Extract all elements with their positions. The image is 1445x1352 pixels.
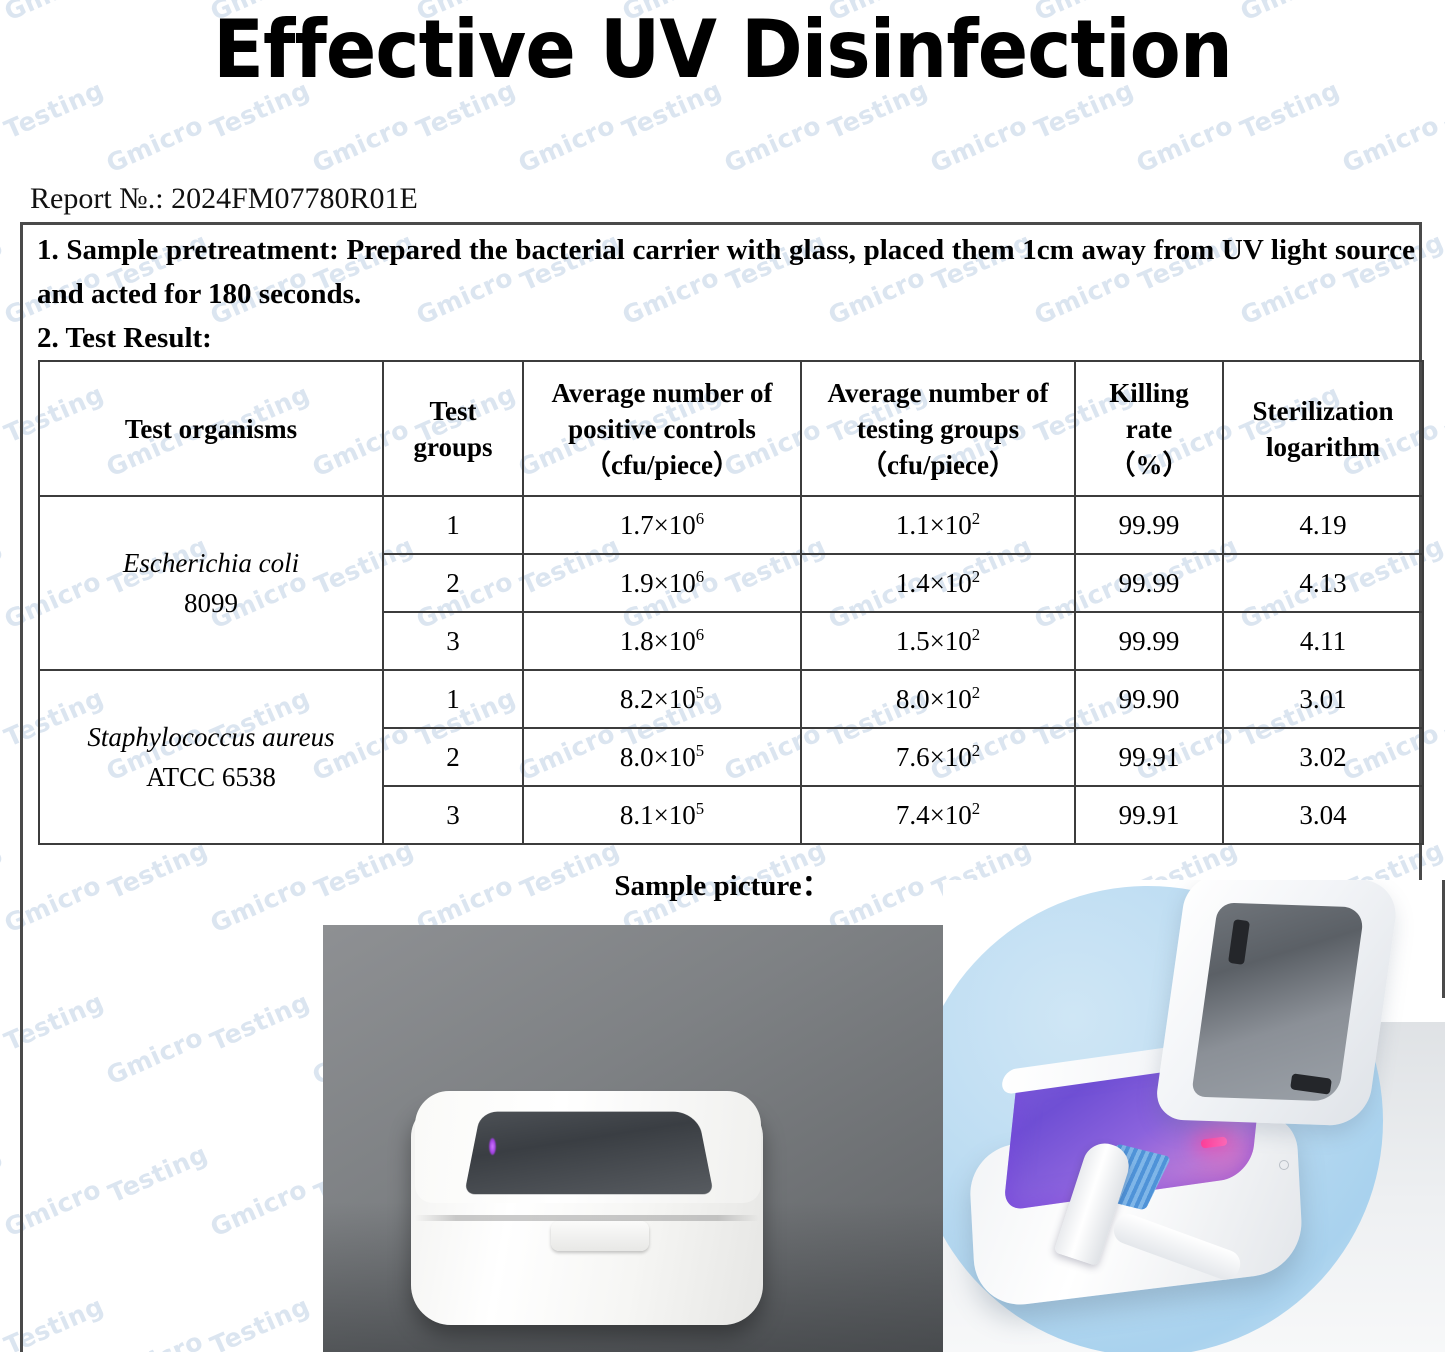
cell-test-group: 1 bbox=[383, 496, 523, 554]
exponent: 5 bbox=[696, 683, 704, 702]
sample-photo-inset bbox=[943, 880, 1445, 1352]
test-result-heading: 2. Test Result: bbox=[37, 316, 1415, 360]
column-header-sterilization-logarithm: Sterilization logarithm bbox=[1223, 361, 1423, 496]
test-result-table: Test organisms Test groups Average numbe… bbox=[38, 360, 1424, 845]
watermark-text: Gmicro bbox=[308, 110, 413, 178]
exponent: 6 bbox=[696, 509, 704, 528]
header-line: （cfu/piece） bbox=[584, 450, 740, 480]
header-line: Average number of bbox=[552, 378, 773, 408]
exponent: 2 bbox=[972, 509, 980, 528]
watermark-text: Gmicro bbox=[0, 1326, 1, 1352]
cell-testing-group-count: 1.4×102 bbox=[801, 554, 1075, 612]
watermark-text: Gmicro bbox=[1338, 110, 1443, 178]
cell-test-group: 2 bbox=[383, 554, 523, 612]
watermark-text: Gmicro bbox=[514, 110, 619, 178]
cell-killing-rate: 99.99 bbox=[1075, 496, 1223, 554]
exponent: 2 bbox=[972, 799, 980, 818]
cell-testing-group-count: 1.5×102 bbox=[801, 612, 1075, 670]
column-header-test-groups: Test groups bbox=[383, 361, 523, 496]
watermark-text: Gmicro bbox=[1132, 110, 1237, 178]
cell-sterilization-logarithm: 3.02 bbox=[1223, 728, 1423, 786]
header-line: positive controls bbox=[568, 414, 756, 444]
header-line: groups bbox=[413, 432, 492, 462]
exponent: 2 bbox=[972, 567, 980, 586]
watermark-text: Testing bbox=[0, 1139, 6, 1208]
watermark-text: Gmicro bbox=[720, 110, 825, 178]
cell-positive-control-count: 1.7×106 bbox=[523, 496, 801, 554]
watermark-text: Gmicro bbox=[0, 1022, 1, 1090]
sample-picture-caption: Sample picture： bbox=[0, 862, 1445, 904]
header-line: logarithm bbox=[1266, 432, 1380, 462]
table-row: Staphylococcus aureusATCC 653818.2×1058.… bbox=[39, 670, 1423, 728]
header-line: rate bbox=[1126, 414, 1172, 444]
cell-positive-control-count: 8.2×105 bbox=[523, 670, 801, 728]
cell-testing-group-count: 7.4×102 bbox=[801, 786, 1075, 844]
table-row: Escherichia coli809911.7×1061.1×10299.99… bbox=[39, 496, 1423, 554]
cell-positive-control-count: 1.8×106 bbox=[523, 612, 801, 670]
cell-test-group: 3 bbox=[383, 612, 523, 670]
cell-positive-control-count: 1.9×106 bbox=[523, 554, 801, 612]
header-line: Killing bbox=[1109, 378, 1189, 408]
organism-scientific-name: Escherichia coli bbox=[40, 543, 382, 583]
column-header-killing-rate: Killing rate （%） bbox=[1075, 361, 1223, 496]
exponent: 2 bbox=[972, 683, 980, 702]
uv-led-glow bbox=[489, 1138, 496, 1155]
pretreatment-block: 1. Sample pretreatment: Prepared the bac… bbox=[37, 228, 1415, 360]
header-line: testing groups bbox=[857, 414, 1019, 444]
cell-test-group: 2 bbox=[383, 728, 523, 786]
cell-sterilization-logarithm: 4.13 bbox=[1223, 554, 1423, 612]
watermark-text: Gmicro bbox=[0, 110, 1, 178]
cell-sterilization-logarithm: 3.04 bbox=[1223, 786, 1423, 844]
cell-testing-group-count: 1.1×102 bbox=[801, 496, 1075, 554]
cell-killing-rate: 99.90 bbox=[1075, 670, 1223, 728]
header-line: Test bbox=[429, 396, 476, 426]
cell-test-group: 3 bbox=[383, 786, 523, 844]
organism-scientific-name: Staphylococcus aureus bbox=[40, 717, 382, 757]
cell-sterilization-logarithm: 3.01 bbox=[1223, 670, 1423, 728]
watermark-text: Testing bbox=[0, 227, 6, 296]
cell-killing-rate: 99.91 bbox=[1075, 786, 1223, 844]
power-button-icon bbox=[1279, 1160, 1289, 1170]
cell-sterilization-logarithm: 4.11 bbox=[1223, 612, 1423, 670]
table-header-row: Test organisms Test groups Average numbe… bbox=[39, 361, 1423, 496]
header-line: （cfu/piece） bbox=[860, 450, 1016, 480]
cell-killing-rate: 99.99 bbox=[1075, 612, 1223, 670]
cell-sterilization-logarithm: 4.19 bbox=[1223, 496, 1423, 554]
exponent: 2 bbox=[972, 741, 980, 760]
uv-box-lid-glass bbox=[464, 1112, 714, 1195]
cell-test-organism: Escherichia coli8099 bbox=[39, 496, 383, 670]
exponent: 2 bbox=[972, 625, 980, 644]
exponent: 6 bbox=[696, 625, 704, 644]
header-line: （%） bbox=[1109, 450, 1190, 480]
uv-box-lid bbox=[415, 1091, 761, 1203]
header-line: Average number of bbox=[828, 378, 1049, 408]
exponent: 6 bbox=[696, 567, 704, 586]
page-title: Effective UV Disinfection bbox=[51, 0, 1395, 102]
cell-positive-control-count: 8.1×105 bbox=[523, 786, 801, 844]
watermark-text: Gmicro bbox=[0, 718, 1, 786]
column-header-test-organisms: Test organisms bbox=[39, 361, 383, 496]
watermark-text: Gmicro bbox=[926, 110, 1031, 178]
header-line: Sterilization bbox=[1253, 396, 1394, 426]
column-header-positive-controls: Average number of positive controls （cfu… bbox=[523, 361, 801, 496]
uv-device-lid-glass bbox=[1191, 902, 1365, 1101]
pretreatment-paragraph: 1. Sample pretreatment: Prepared the bac… bbox=[37, 228, 1415, 316]
column-header-testing-groups: Average number of testing groups （cfu/pi… bbox=[801, 361, 1075, 496]
organism-strain: 8099 bbox=[40, 583, 382, 623]
cell-testing-group-count: 8.0×102 bbox=[801, 670, 1075, 728]
exponent: 5 bbox=[696, 799, 704, 818]
cell-test-organism: Staphylococcus aureusATCC 6538 bbox=[39, 670, 383, 844]
cell-positive-control-count: 8.0×105 bbox=[523, 728, 801, 786]
exponent: 5 bbox=[696, 741, 704, 760]
cell-testing-group-count: 7.6×102 bbox=[801, 728, 1075, 786]
watermark-text: Testing bbox=[0, 531, 6, 600]
uv-box-latch bbox=[551, 1221, 649, 1251]
watermark-text: Gmicro bbox=[102, 110, 207, 178]
cell-killing-rate: 99.99 bbox=[1075, 554, 1223, 612]
cell-test-group: 1 bbox=[383, 670, 523, 728]
sample-photo-main bbox=[323, 925, 966, 1352]
report-number: Report №.: 2024FM07780R01E bbox=[30, 182, 418, 216]
watermark-text: Gmicro bbox=[0, 414, 1, 482]
cell-killing-rate: 99.91 bbox=[1075, 728, 1223, 786]
organism-strain: ATCC 6538 bbox=[40, 757, 382, 797]
